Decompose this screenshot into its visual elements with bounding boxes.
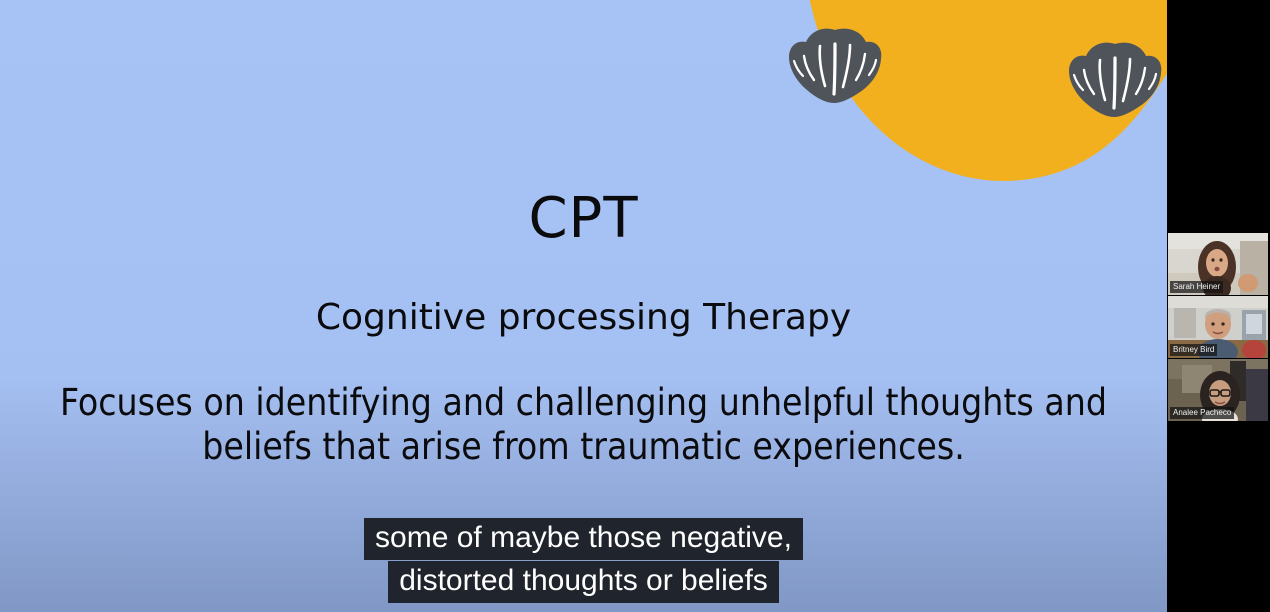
slide-title: CPT [0,186,1167,251]
slide-subtitle: Cognitive processing Therapy [0,297,1167,338]
slide-text-container: CPT Cognitive processing Therapy Focuses… [0,0,1167,612]
slide-body-line-2: beliefs that arise from traumatic experi… [50,425,1117,469]
meeting-screen-share-view: CPT Cognitive processing Therapy Focuses… [0,0,1270,612]
slide-body-line-1: Focuses on identifying and challenging u… [50,381,1117,425]
participant-tile[interactable]: Britney Bird [1168,296,1268,358]
participant-name-label: Analee Pacheco [1170,407,1234,419]
participant-name-label: Sarah Heiner [1170,281,1223,293]
participant-video-rail: Sarah Heiner Britney Bird [1167,0,1270,612]
participant-tile[interactable]: Analee Pacheco [1168,359,1268,421]
slide-body: Focuses on identifying and challenging u… [50,381,1117,469]
participant-name-label: Britney Bird [1170,344,1217,356]
shared-slide: CPT Cognitive processing Therapy Focuses… [0,0,1167,612]
participant-tile[interactable]: Sarah Heiner [1168,233,1268,295]
